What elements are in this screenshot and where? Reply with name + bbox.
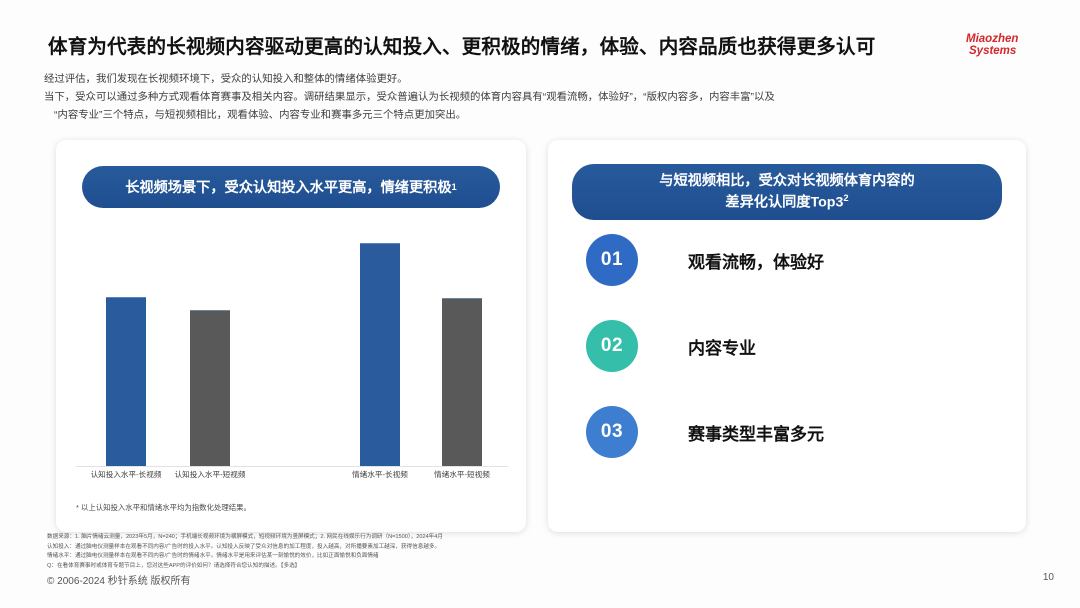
footnote-line-2: 情绪水平：通过脑电仪测量样本在观看不同内容/广告时的情绪水平。情绪水平是用来评估…: [47, 552, 1040, 562]
chart-plot-area: [72, 226, 512, 467]
logo-line-1: Miaozhen: [966, 34, 1036, 46]
x-label-1: 认知投入水平-短视频: [175, 469, 246, 480]
chart-x-labels: 认知投入水平-长视频 认知投入水平-短视频 情绪水平-长视频 情绪水平-短视频: [72, 469, 512, 487]
rank-label: 内容专业: [688, 334, 756, 359]
footnote-line-1: 认知投入：通过脑电仪测量样本在观看不同内容/广告时的投入水平。认知投入反映了受众…: [47, 543, 1040, 553]
rank-number: 02: [601, 335, 623, 357]
copyright-text: © 2006-2024 秒针系统 版权所有: [47, 572, 191, 587]
rank-badge-03: 03: [586, 406, 638, 458]
intro-line-1: 经过评估，我们发现在长视频环境下，受众的认知投入和整体的情绪体验更好。: [44, 72, 1040, 88]
top3-banner-line-2-wrap: 差异化认同度Top32: [659, 192, 914, 213]
intro-line-2: 当下，受众可以通过多种方式观看体育赛事及相关内容。调研结果显示，受众普遍认为长视…: [44, 90, 1040, 106]
brand-logo: Miaozhen Systems: [966, 34, 1036, 57]
top3-card: 与短视频相比，受众对长视频体育内容的 差异化认同度Top32 01 观看流畅，体…: [548, 140, 1026, 532]
chart-banner: 长视频场景下，受众认知投入水平更高，情绪更积极1: [82, 166, 500, 208]
bar-0: [106, 297, 146, 466]
rank-badge-02: 02: [586, 320, 638, 372]
chart-card: 长视频场景下，受众认知投入水平更高，情绪更积极1 认知投入水平-长视频 认知投入…: [56, 140, 526, 532]
intro-text: 经过评估，我们发现在长视频环境下，受众的认知投入和整体的情绪体验更好。 当下，受…: [44, 72, 1040, 125]
slide-header: 体育为代表的长视频内容驱动更高的认知投入、更积极的情绪，体验、内容品质也获得更多…: [48, 30, 1040, 59]
chart-banner-footnote-marker: 1: [452, 182, 457, 192]
top3-banner-line-2: 差异化认同度Top3: [725, 194, 843, 210]
chart-banner-label: 长视频场景下，受众认知投入水平更高，情绪更积极: [125, 177, 451, 197]
bar-1: [190, 310, 230, 466]
intro-line-3: “内容专业”三个特点，与短视频相比，观看体验、内容专业和赛事多元三个特点更加突出…: [44, 108, 1040, 124]
x-label-0: 认知投入水平-长视频: [91, 469, 162, 480]
logo-line-2: Systems: [966, 46, 1036, 58]
slide-root: 体育为代表的长视频内容驱动更高的认知投入、更积极的情绪，体验、内容品质也获得更多…: [0, 0, 1080, 608]
rank-number: 03: [601, 421, 623, 443]
footnote-line-3: Q：在看体育赛事时或体育专题节目上，您对这些APP的评价如何？请选择符合您认知的…: [47, 562, 1040, 572]
rank-label: 观看流畅，体验好: [688, 248, 824, 273]
list-item[interactable]: 03 赛事类型丰富多元: [586, 406, 824, 458]
list-item[interactable]: 02 内容专业: [586, 320, 756, 372]
rank-number: 01: [601, 249, 623, 271]
page-title: 体育为代表的长视频内容驱动更高的认知投入、更积极的情绪，体验、内容品质也获得更多…: [48, 30, 1040, 59]
top3-banner-footnote-marker: 2: [843, 193, 848, 203]
bar-3: [442, 298, 482, 466]
x-label-2: 情绪水平-长视频: [352, 469, 408, 480]
bar-2: [360, 243, 400, 466]
bar-chart: 认知投入水平-长视频 认知投入水平-短视频 情绪水平-长视频 情绪水平-短视频: [72, 226, 512, 496]
rank-badge-01: 01: [586, 234, 638, 286]
top3-banner-line-1: 与短视频相比，受众对长视频体育内容的: [659, 171, 914, 191]
top3-banner: 与短视频相比，受众对长视频体育内容的 差异化认同度Top32: [572, 164, 1002, 220]
footnote-block: 数据来源：1. 脑片情绪云测量，2023年5月，N=240；手机端长视频环境为横…: [47, 533, 1040, 571]
rank-label: 赛事类型丰富多元: [688, 420, 824, 445]
list-item[interactable]: 01 观看流畅，体验好: [586, 234, 824, 286]
x-label-3: 情绪水平-短视频: [434, 469, 490, 480]
footnote-line-0: 数据来源：1. 脑片情绪云测量，2023年5月，N=240；手机端长视频环境为横…: [47, 533, 1040, 543]
chart-baseline-axis: [76, 466, 508, 467]
page-number: 10: [1043, 572, 1054, 583]
chart-footnote: * 以上认知投入水平和情绪水平均为指数化处理结果。: [76, 502, 251, 513]
